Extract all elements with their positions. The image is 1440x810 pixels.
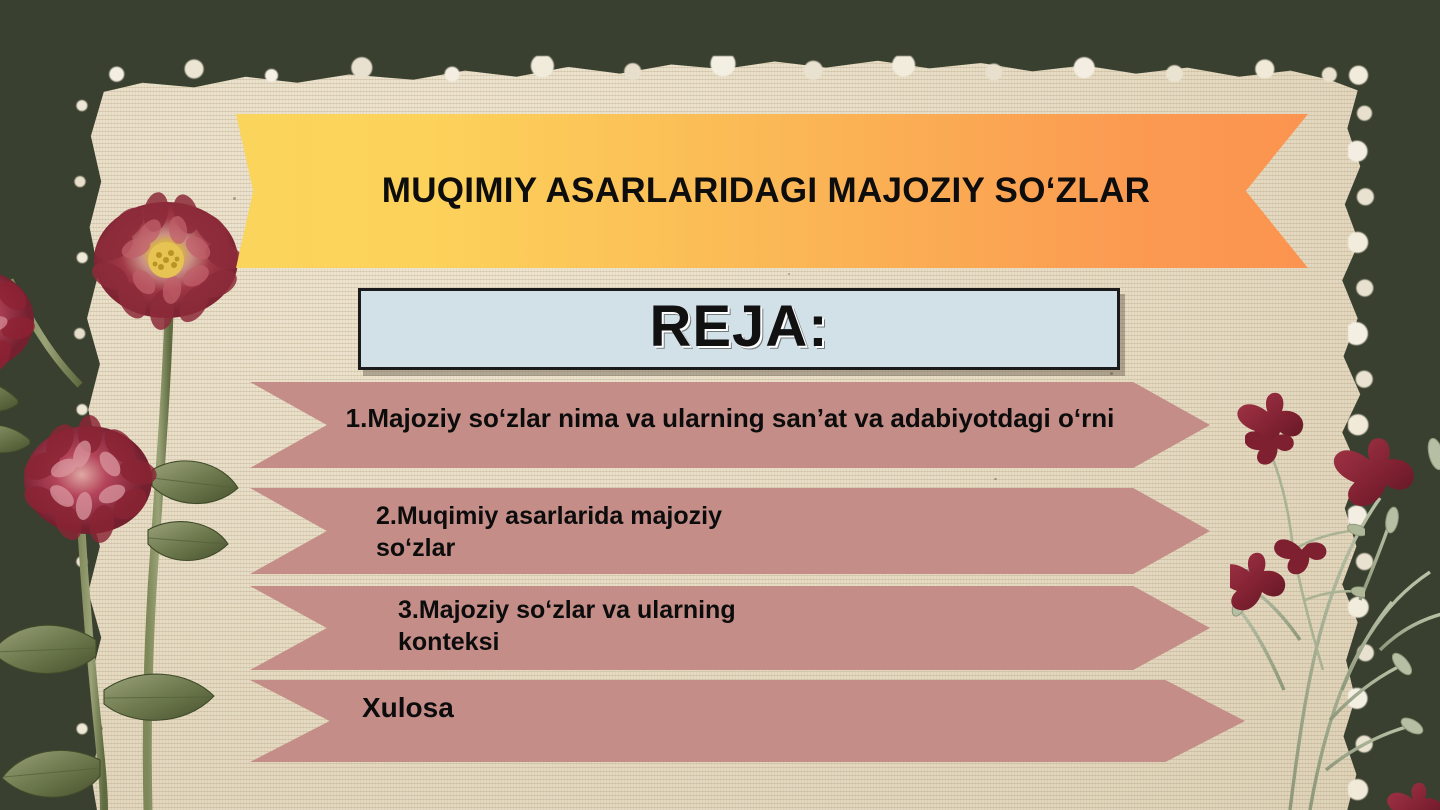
list-item-label-2: 2.Muqimiy asarlarida majoziy so‘zlar <box>376 500 796 564</box>
reja-heading-box: REJA: <box>358 288 1120 370</box>
list-item-label-1: 1.Majoziy so‘zlar nima va ularning san’a… <box>310 402 1150 435</box>
small-carnation-icon <box>1245 430 1365 690</box>
chrysanthemum-icon <box>0 170 270 810</box>
list-item-label-4: Xulosa <box>362 690 492 726</box>
title-ribbon: MUQIMIY ASARLARIDAGI MAJOZIY SO‘ZLAR <box>236 114 1308 268</box>
reja-heading-label: REJA: <box>649 298 828 356</box>
presentation-slide: MUQIMIY ASARLARIDAGI MAJOZIY SO‘ZLAR REJ… <box>0 0 1440 810</box>
left-flower-decoration <box>0 170 270 810</box>
accent-blossoms <box>1245 430 1365 690</box>
list-item-label-3: 3.Majoziy so‘zlar va ularning konteksi <box>398 594 818 658</box>
page-title: MUQIMIY ASARLARIDAGI MAJOZIY SO‘ZLAR <box>336 168 1196 215</box>
